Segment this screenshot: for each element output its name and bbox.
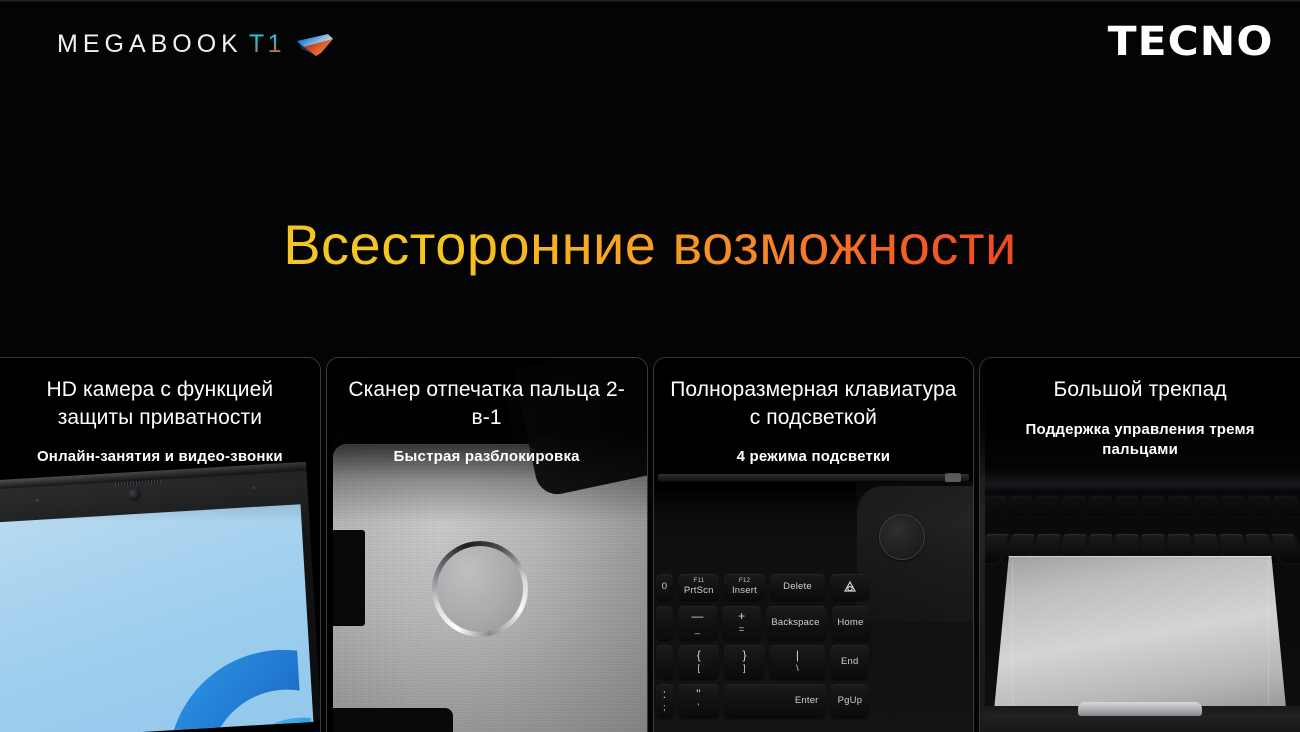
keyboard-illustration: 0 F11 PrtScn F12 Insert Delete — [654, 358, 974, 732]
key-quote-apostrophe[interactable]: " ' — [678, 684, 718, 718]
presentation-slide: MEGABOOK T1 — [0, 0, 1300, 732]
key-label: 0 — [662, 582, 667, 593]
key-minus-underscore[interactable]: — _ — [678, 606, 717, 640]
key-label: Home — [837, 618, 863, 629]
trackpad-surface — [994, 556, 1286, 708]
key-label: Backspace — [771, 618, 819, 629]
slide-title-container: Всесторонние возможности — [0, 175, 1300, 314]
key-colon-semicolon[interactable]: : ; — [656, 684, 674, 718]
key-top-label: } — [742, 649, 746, 663]
key-power-lock[interactable] — [830, 574, 869, 600]
key-bottom-label: _ — [695, 625, 700, 636]
key-sub-label: F11 — [693, 577, 704, 584]
feature-cards-row: HD камера с функцией защиты приватности … — [0, 357, 1300, 732]
laptop-camera-illustration — [0, 358, 320, 732]
key-home[interactable]: Home — [832, 606, 870, 640]
key-bottom-label: \ — [796, 664, 799, 675]
backlit-keys — [980, 482, 1300, 554]
page-title: Всесторонние возможности — [283, 213, 1017, 277]
key-insert[interactable]: F12 Insert — [724, 574, 765, 600]
key-brace-open[interactable]: { [ — [678, 645, 719, 679]
lid-open-notch — [1078, 702, 1202, 716]
power-lock-icon — [843, 581, 857, 593]
key-top-label: " — [696, 688, 700, 702]
key-pgup[interactable]: PgUp — [831, 684, 870, 718]
fingerprint-button-illustration — [327, 358, 647, 732]
key-bottom-label: ' — [697, 703, 699, 714]
key-top-label: { — [697, 649, 701, 663]
key-backspace[interactable]: Backspace — [766, 606, 826, 640]
feature-card-fingerprint-scanner[interactable]: Сканер отпечатка пальца 2-в-1 Быстрая ра… — [326, 357, 648, 732]
key-top-label: + — [738, 610, 745, 624]
key-0[interactable]: 0 — [656, 574, 674, 600]
megabook-product-logo: MEGABOOK T1 — [57, 27, 334, 61]
tecno-brand-logo: TECNO — [1117, 22, 1273, 62]
keyboard-keys: 0 F11 PrtScn F12 Insert Delete — [656, 574, 870, 732]
key-top-label: | — [796, 649, 799, 663]
windows-wallpaper-bloom — [144, 595, 313, 732]
key-bottom-label: = — [739, 625, 745, 636]
key-delete[interactable]: Delete — [770, 574, 825, 600]
feature-card-backlit-keyboard[interactable]: 0 F11 PrtScn F12 Insert Delete — [653, 357, 975, 732]
key-label: End — [841, 657, 859, 668]
slide-header: MEGABOOK T1 — [0, 0, 1300, 92]
key-top-label: : — [663, 688, 666, 702]
power-button-icon — [879, 514, 925, 560]
key-label: Enter — [795, 696, 819, 707]
key-bottom-label: ; — [663, 703, 666, 714]
key-bottom-label: ] — [743, 664, 746, 675]
diamond-gem-icon — [294, 32, 334, 58]
trackpad-illustration — [980, 358, 1300, 732]
feature-card-large-trackpad[interactable]: Большой трекпад Поддержка управления тре… — [979, 357, 1300, 732]
tecno-wordmark: TECNO — [1107, 22, 1273, 62]
key-bottom-label: [ — [697, 664, 700, 675]
feature-card-hd-camera[interactable]: HD камера с функцией защиты приватности … — [0, 357, 321, 732]
key-plus-equals[interactable]: + = — [722, 606, 761, 640]
key-prtscn[interactable]: F11 PrtScn — [678, 574, 719, 600]
key-brace-close[interactable]: } ] — [724, 645, 765, 679]
key-end[interactable]: End — [830, 645, 869, 679]
key-pipe-backslash[interactable]: | \ — [770, 645, 825, 679]
key-label: PrtScn — [684, 586, 714, 597]
key-label: PgUp — [838, 696, 863, 707]
key-top-label: — — [691, 610, 703, 624]
key-sub-label: F12 — [739, 577, 750, 584]
key-enter[interactable]: Enter — [724, 684, 826, 718]
megabook-wordmark: MEGABOOK — [57, 32, 243, 57]
key-blank-left-2[interactable] — [656, 645, 674, 679]
key-label: Delete — [783, 582, 812, 593]
key-blank-left[interactable] — [656, 606, 673, 640]
megabook-model-t1: T1 — [249, 32, 285, 57]
key-label: Insert — [732, 586, 757, 597]
